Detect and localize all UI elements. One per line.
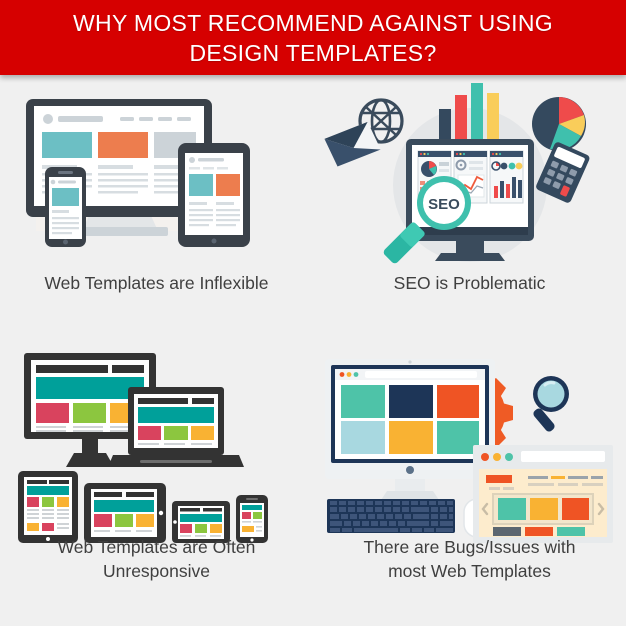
bar-chart-card [490,151,523,203]
caption-web-templates-inflexible: Web Templates are Inflexible [0,271,313,295]
browser-window-svg [473,445,613,543]
illustration-seo: SEO [313,81,626,276]
caption-seo-problematic: SEO is Problematic [313,271,626,295]
page-title: WHY MOST RECOMMEND AGAINST USING DESIGN … [33,8,593,68]
caption-line1: There are Bugs/Issues with [363,537,575,557]
magnifier-handle [382,221,426,265]
item-web-templates-unresponsive: Web Templates are Often Unresponsive [0,343,313,618]
infographic-page: WHY MOST RECOMMEND AGAINST USING DESIGN … [0,0,626,626]
illustration-grid: Web Templates are Inflexible [0,75,626,626]
item-seo-problematic: SEO SEO is Problematic [313,75,626,350]
keyboard-svg [327,499,455,533]
magnifier-seo-label: SEO [428,196,460,213]
caption-line2: most Web Templates [388,561,551,581]
item-bugs-issues: There are Bugs/Issues with most Web Temp… [313,343,626,618]
caption-bugs-issues: There are Bugs/Issues with most Web Temp… [313,535,626,583]
caption-web-templates-unresponsive: Web Templates are Often Unresponsive [0,535,313,583]
caption-line2: Unresponsive [103,561,210,581]
illustration-responsive-devices [0,349,313,544]
illustration-imac-gear-browser [313,349,626,544]
illustration-desktop-phone-tablet [0,81,313,276]
header-banner: WHY MOST RECOMMEND AGAINST USING DESIGN … [0,0,626,75]
page-title-line1: WHY MOST RECOMMEND AGAINST USING [73,10,553,36]
caption-line1: Web Templates are Often [58,537,256,557]
item-web-templates-inflexible: Web Templates are Inflexible [0,75,313,350]
page-title-line2: DESIGN TEMPLATES? [189,40,436,66]
magnifier-icon-svg [532,376,569,433]
